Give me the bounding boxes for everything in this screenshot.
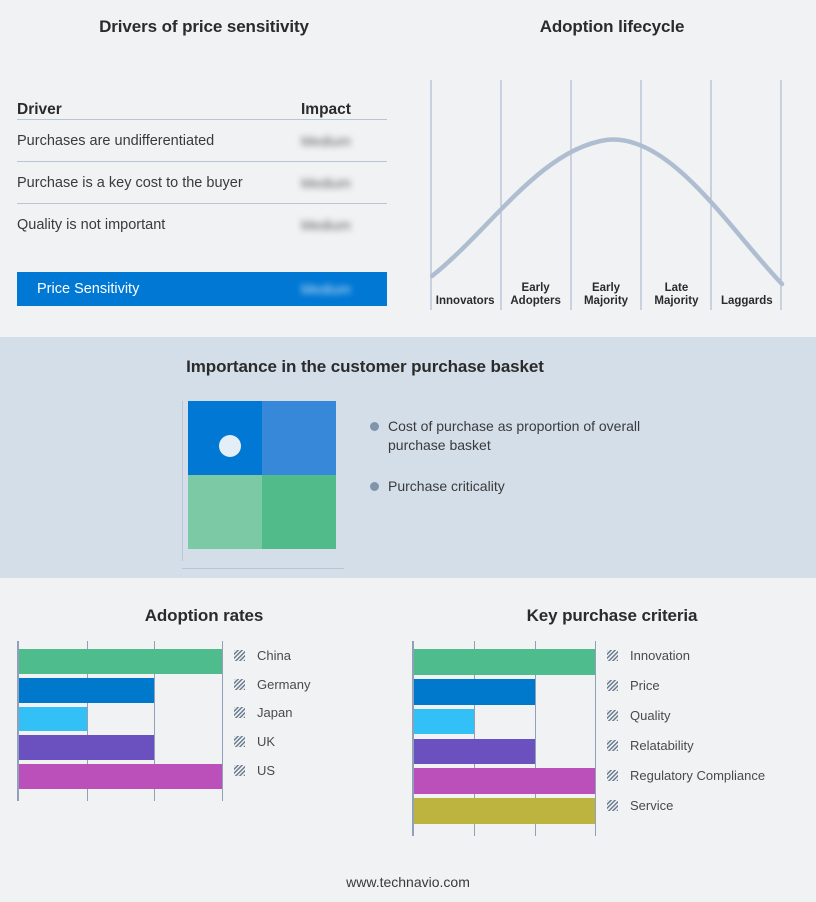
quadrant-x-axis bbox=[182, 568, 344, 569]
lifecycle-stage-early-adopters: Early Adopters bbox=[500, 272, 570, 310]
impact-value: Medium bbox=[301, 217, 387, 233]
stage-line-1: Early bbox=[571, 282, 641, 295]
adoption-rates-title: Adoption rates bbox=[0, 606, 408, 626]
bar-regulatory-compliance bbox=[414, 768, 595, 794]
bar-service bbox=[414, 798, 595, 824]
stage-line-2: Adopters bbox=[500, 295, 570, 308]
legend-item: China bbox=[234, 641, 310, 670]
column-header-driver: Driver bbox=[17, 101, 301, 119]
legend-item: Regulatory Compliance bbox=[607, 760, 765, 790]
legend-item: Germany bbox=[234, 670, 310, 699]
chart-gridline bbox=[222, 641, 223, 801]
legend-item: Price bbox=[607, 671, 765, 701]
stage-line-2: Majority bbox=[571, 295, 641, 308]
hatch-swatch-icon bbox=[234, 707, 245, 718]
legend-label: UK bbox=[257, 734, 275, 749]
legend-label: Service bbox=[630, 798, 673, 813]
legend-item: Relatability bbox=[607, 730, 765, 760]
column-header-impact: Impact bbox=[301, 101, 387, 119]
bar-relatability bbox=[414, 739, 535, 765]
hatch-swatch-icon bbox=[234, 650, 245, 661]
price-sensitivity-label: Price Sensitivity bbox=[17, 281, 301, 297]
legend-item: Quality bbox=[607, 701, 765, 731]
legend-label: Cost of purchase as proportion of overal… bbox=[388, 417, 670, 455]
adoption-rates-chart bbox=[17, 641, 222, 801]
purchase-basket-panel: Importance in the customer purchase bask… bbox=[0, 337, 816, 578]
driver-label: Purchases are undifferentiated bbox=[17, 133, 301, 149]
legend-label: Germany bbox=[257, 677, 310, 692]
key-purchase-criteria-chart bbox=[412, 641, 595, 836]
lifecycle-stage-late-majority: Late Majority bbox=[641, 272, 711, 310]
legend-label: Relatability bbox=[630, 738, 694, 753]
impact-value: Medium bbox=[301, 175, 387, 191]
table-row: Purchases are undifferentiated Medium bbox=[17, 120, 387, 162]
drivers-table-header: Driver Impact bbox=[17, 90, 387, 120]
stage-line-2: Majority bbox=[641, 295, 711, 308]
lifecycle-bell-curve bbox=[432, 140, 782, 284]
lifecycle-stage-laggards: Laggards bbox=[712, 272, 782, 310]
drivers-table: Driver Impact Purchases are undifferenti… bbox=[17, 90, 387, 246]
key-purchase-criteria-legend: InnovationPriceQualityRelatabilityRegula… bbox=[607, 641, 765, 820]
price-sensitivity-summary-row: Price Sensitivity Medium bbox=[17, 272, 387, 306]
impact-value: Medium bbox=[301, 133, 387, 149]
hatch-swatch-icon bbox=[234, 765, 245, 776]
quadrant-chart bbox=[182, 401, 347, 569]
stage-line-2: Laggards bbox=[712, 295, 782, 308]
infographic-page: Drivers of price sensitivity Driver Impa… bbox=[0, 0, 816, 902]
legend-item: UK bbox=[234, 727, 310, 756]
adoption-rates-panel: Adoption rates ChinaGermanyJapanUKUS bbox=[0, 578, 408, 902]
stage-line-2: Innovators bbox=[430, 295, 500, 308]
bar-innovation bbox=[414, 649, 595, 675]
bullet-icon bbox=[370, 422, 379, 431]
legend-label: Quality bbox=[630, 708, 670, 723]
key-purchase-criteria-title: Key purchase criteria bbox=[408, 606, 816, 626]
purchase-basket-legend: Cost of purchase as proportion of overal… bbox=[370, 417, 670, 518]
hatch-swatch-icon bbox=[234, 736, 245, 747]
legend-item: Cost of purchase as proportion of overal… bbox=[370, 417, 670, 455]
bar-china bbox=[19, 649, 222, 674]
bar-germany bbox=[19, 678, 154, 703]
purchase-basket-title: Importance in the customer purchase bask… bbox=[0, 357, 730, 377]
hatch-swatch-icon bbox=[607, 680, 618, 691]
legend-item: Japan bbox=[234, 699, 310, 728]
bar-quality bbox=[414, 709, 474, 735]
quadrant-cells bbox=[188, 401, 336, 549]
legend-label: Regulatory Compliance bbox=[630, 768, 765, 783]
price-sensitivity-impact: Medium bbox=[301, 281, 387, 297]
bar-uk bbox=[19, 735, 154, 760]
hatch-swatch-icon bbox=[234, 679, 245, 690]
legend-label: US bbox=[257, 763, 275, 778]
lifecycle-stage-innovators: Innovators bbox=[430, 272, 500, 310]
table-row: Purchase is a key cost to the buyer Medi… bbox=[17, 162, 387, 204]
stage-line-1: Early bbox=[500, 282, 570, 295]
quadrant-cell-bottom-right bbox=[262, 475, 336, 549]
legend-label: Japan bbox=[257, 705, 292, 720]
quadrant-y-axis bbox=[182, 401, 183, 561]
lifecycle-stage-labels: Innovators Early Adopters Early Majority… bbox=[430, 272, 782, 310]
legend-label: Purchase criticality bbox=[388, 477, 505, 496]
driver-label: Purchase is a key cost to the buyer bbox=[17, 175, 301, 191]
key-purchase-criteria-panel: Key purchase criteria InnovationPriceQua… bbox=[408, 578, 816, 902]
drivers-panel: Drivers of price sensitivity Driver Impa… bbox=[0, 0, 408, 337]
quadrant-cell-top-right bbox=[262, 401, 336, 475]
legend-label: Innovation bbox=[630, 648, 690, 663]
legend-label: Price bbox=[630, 678, 660, 693]
legend-item: US bbox=[234, 756, 310, 785]
legend-label: China bbox=[257, 648, 291, 663]
drivers-panel-title: Drivers of price sensitivity bbox=[0, 17, 408, 37]
footer-url: www.technavio.com bbox=[0, 874, 816, 890]
quadrant-cell-bottom-left bbox=[188, 475, 262, 549]
adoption-lifecycle-panel: Adoption lifecycle Innovators bbox=[408, 0, 816, 337]
bar-us bbox=[19, 764, 222, 789]
stage-line-1: Late bbox=[641, 282, 711, 295]
table-row: Quality is not important Medium bbox=[17, 204, 387, 246]
hatch-swatch-icon bbox=[607, 740, 618, 751]
driver-label: Quality is not important bbox=[17, 217, 301, 233]
bullet-icon bbox=[370, 482, 379, 491]
hatch-swatch-icon bbox=[607, 800, 618, 811]
legend-item: Purchase criticality bbox=[370, 477, 670, 496]
hatch-swatch-icon bbox=[607, 770, 618, 781]
legend-item: Service bbox=[607, 790, 765, 820]
quadrant-position-marker bbox=[219, 435, 241, 457]
hatch-swatch-icon bbox=[607, 710, 618, 721]
adoption-lifecycle-title: Adoption lifecycle bbox=[408, 17, 816, 37]
legend-item: Innovation bbox=[607, 641, 765, 671]
bar-japan bbox=[19, 707, 87, 732]
chart-gridline bbox=[595, 641, 596, 836]
lifecycle-stage-early-majority: Early Majority bbox=[571, 272, 641, 310]
bar-price bbox=[414, 679, 535, 705]
adoption-rates-legend: ChinaGermanyJapanUKUS bbox=[234, 641, 310, 785]
hatch-swatch-icon bbox=[607, 650, 618, 661]
